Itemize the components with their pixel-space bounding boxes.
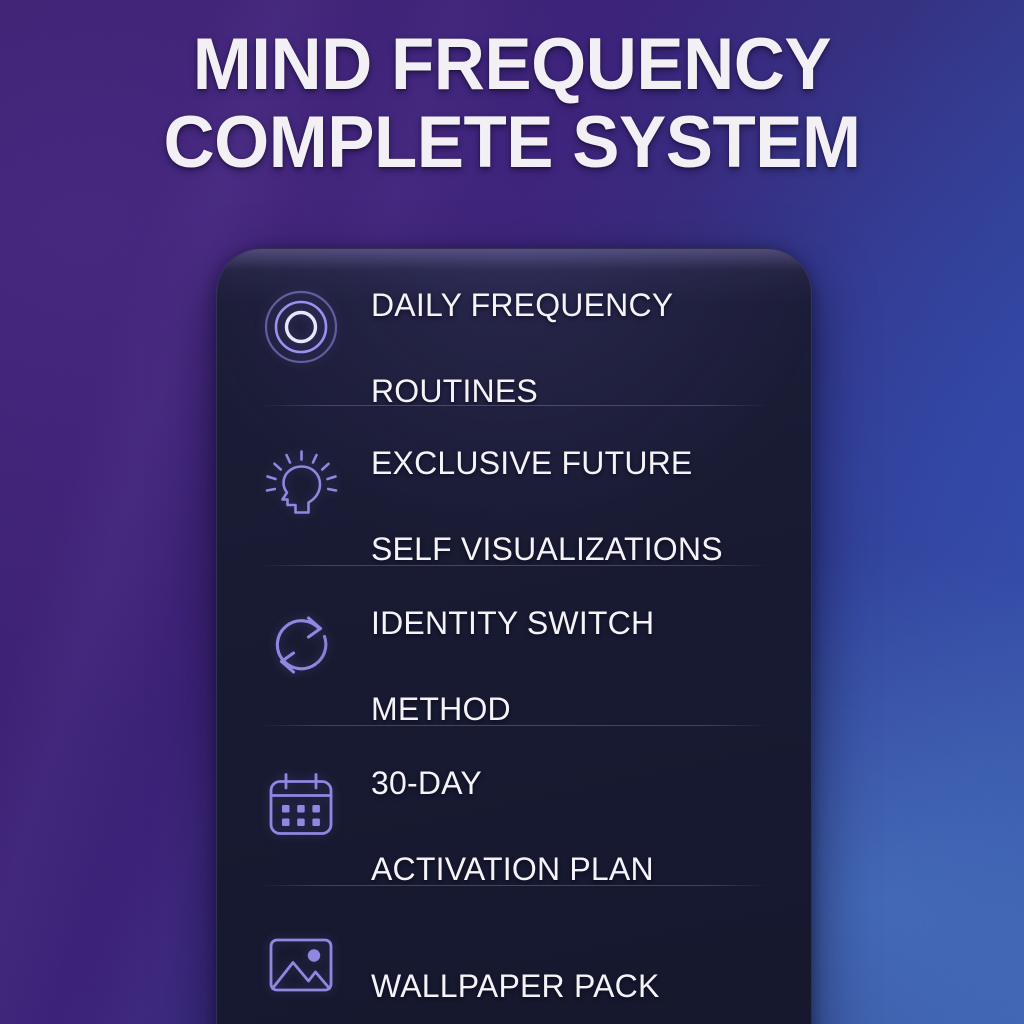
calendar-icon — [263, 767, 339, 843]
promo-graphic-root: MIND FREQUENCY COMPLETE SYSTEM DAILY FRE… — [0, 0, 1024, 1024]
concentric-circles-icon — [263, 289, 339, 365]
list-item-label: EXCLUSIVE FUTURE SELF VISUALIZATIONS — [371, 399, 723, 571]
list-item-label-line-1: 30-DAY — [371, 765, 482, 801]
list-item[interactable]: DAILY FREQUENCY ROUTINES — [263, 249, 765, 405]
image-photo-icon — [263, 927, 339, 1003]
list-item-label-line-1: WALLPAPER PACK — [371, 968, 660, 1004]
list-item[interactable]: EXCLUSIVE FUTURE SELF VISUALIZATIONS — [263, 405, 765, 565]
list-item-label-line-1: IDENTITY SWITCH — [371, 605, 654, 641]
list-item-label-line-1: EXCLUSIVE FUTURE — [371, 445, 692, 481]
list-item[interactable]: WALLPAPER PACK — [263, 885, 765, 1024]
list-item-label: WALLPAPER PACK — [371, 922, 660, 1008]
list-item-label: IDENTITY SWITCH METHOD — [371, 559, 654, 731]
page-title-line-2: COMPLETE SYSTEM — [15, 104, 1008, 182]
feature-list-card: DAILY FREQUENCY ROUTINES — [216, 248, 812, 1024]
feature-list: DAILY FREQUENCY ROUTINES — [217, 249, 811, 1024]
list-item-label: 30-DAY ACTIVATION PLAN — [371, 719, 654, 891]
list-item[interactable]: 30-DAY ACTIVATION PLAN — [263, 725, 765, 885]
page-title-line-1: MIND FREQUENCY — [15, 26, 1008, 104]
head-with-rays-icon — [263, 447, 339, 523]
list-item-label: DAILY FREQUENCY ROUTINES — [371, 248, 673, 413]
refresh-cycle-icon — [263, 607, 339, 683]
list-item-label-line-2: ACTIVATION PLAN — [371, 851, 654, 887]
list-item-label-line-1: DAILY FREQUENCY — [371, 287, 673, 323]
list-item[interactable]: IDENTITY SWITCH METHOD — [263, 565, 765, 725]
page-title: MIND FREQUENCY COMPLETE SYSTEM — [15, 26, 1008, 182]
